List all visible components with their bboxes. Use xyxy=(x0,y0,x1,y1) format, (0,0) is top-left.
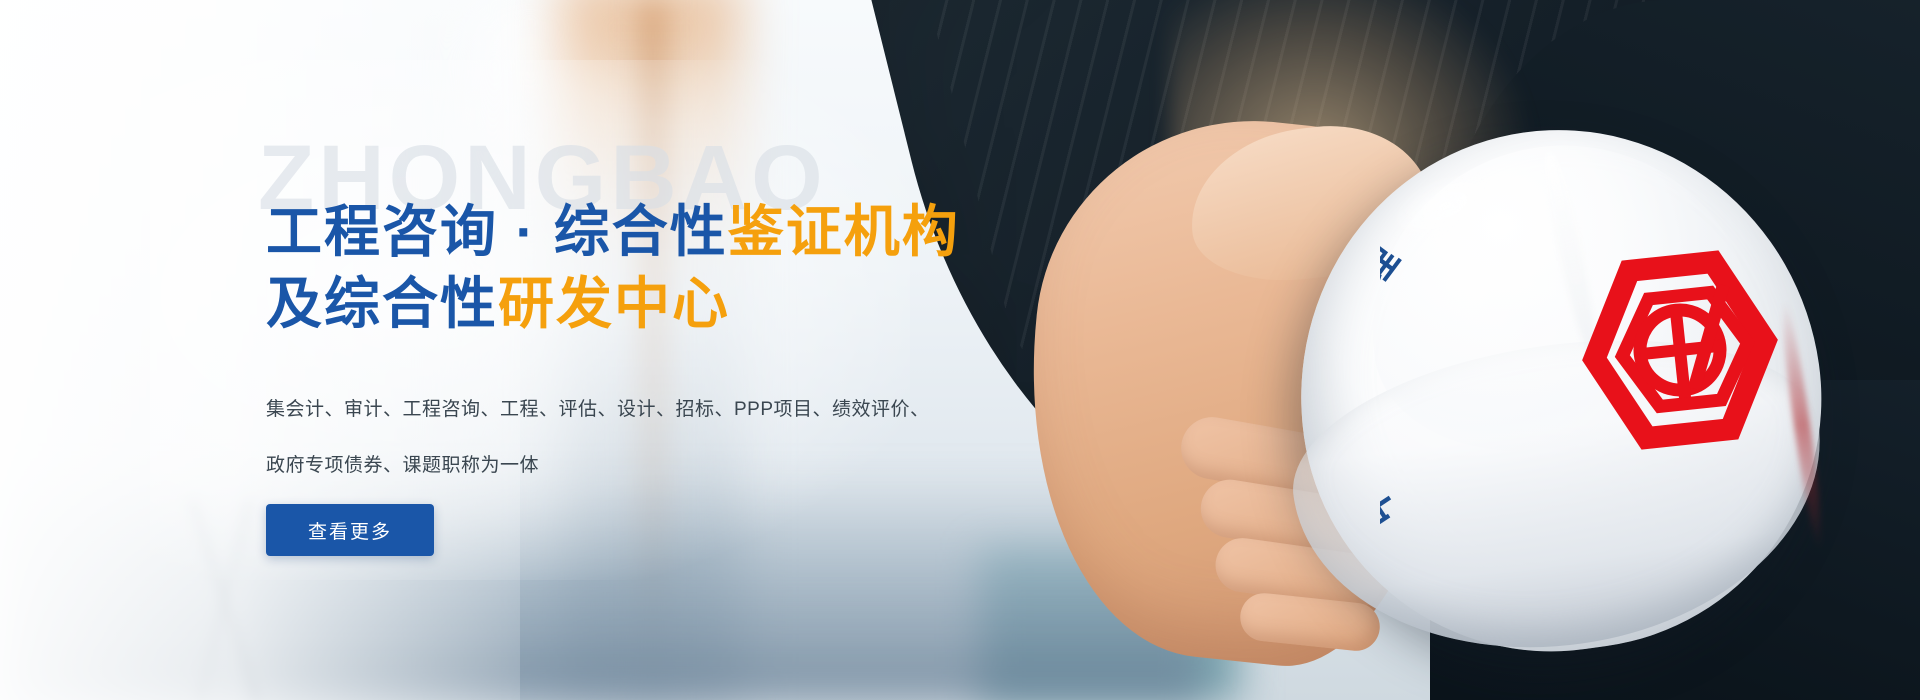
subtitle: 集会计、审计、工程咨询、工程、评估、设计、招标、PPP项目、绩效评价、 政府专项… xyxy=(266,382,930,494)
hero-content: ZHONGBAO 工程咨询 · 综合性鉴证机构 及综合性研发中心 集会计、审计、… xyxy=(0,0,1000,700)
subtitle-line-1: 集会计、审计、工程咨询、工程、评估、设计、招标、PPP项目、绩效评价、 xyxy=(266,382,930,438)
hero-banner: 中宝工程管理 ZHONGBAO 工程咨询 · 综合性鉴证机构 及综合性研发中心 … xyxy=(0,0,1920,700)
headline-line-1-blue: 工程咨询 · 综合性 xyxy=(266,200,728,263)
subtitle-line-2: 政府专项债券、课题职称为一体 xyxy=(266,438,930,494)
zhongbao-hexagon-logo-icon xyxy=(1570,240,1790,460)
headline: 工程咨询 · 综合性鉴证机构 及综合性研发中心 xyxy=(266,196,960,340)
headline-line-1: 工程咨询 · 综合性鉴证机构 xyxy=(266,196,960,268)
headline-line-2-blue: 及综合性 xyxy=(266,272,498,335)
view-more-button[interactable]: 查看更多 xyxy=(266,504,434,556)
headline-line-1-orange: 鉴证机构 xyxy=(728,200,960,263)
svg-text:中宝工程管理: 中宝工程管理 xyxy=(1380,231,1412,536)
hard-hat-curved-text-label: 中宝工程管理 xyxy=(1380,231,1412,536)
headline-line-2: 及综合性研发中心 xyxy=(266,268,960,340)
headline-line-2-orange: 研发中心 xyxy=(498,272,730,335)
